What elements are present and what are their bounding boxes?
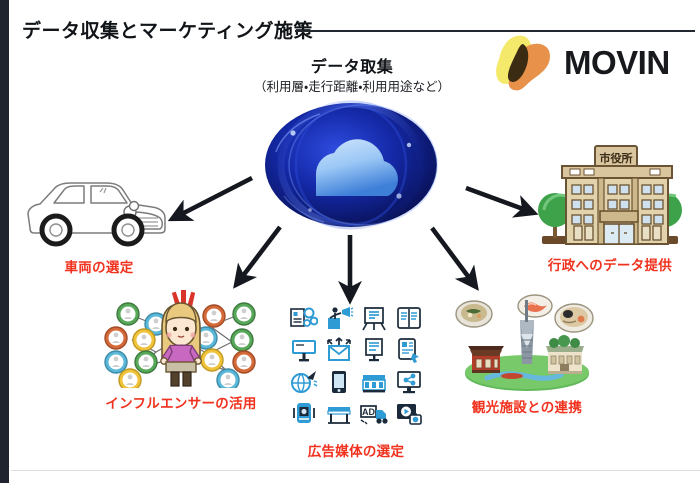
food-bowl-ramen	[456, 301, 492, 327]
smartphone-icon	[323, 368, 354, 396]
temple-building	[468, 346, 504, 373]
center-heading-sub: （利用層・走行距離・利用用途など）	[232, 78, 472, 96]
food-plate-sushi	[518, 295, 552, 317]
ad-truck-icon: AD	[358, 400, 389, 428]
influencer-network-icon	[86, 288, 276, 388]
svg-text:AD: AD	[362, 407, 375, 417]
city-hall-building-icon: 市役所	[520, 138, 700, 250]
arrow-to-vehicle	[172, 178, 252, 219]
movin-leaf-mark-icon	[492, 32, 566, 94]
node-influencer-label: インフルエンサーの活用	[86, 392, 276, 412]
open-book-icon	[393, 304, 424, 332]
arrow-to-tourism	[432, 228, 476, 287]
node-tourism-label: 観光施設との連携	[442, 396, 612, 416]
billboard-icon	[288, 336, 319, 364]
video-play-photo-icon	[393, 400, 424, 428]
slide-frame-inner-gap	[9, 0, 11, 483]
advertising-media-icon-grid: AD	[288, 304, 424, 428]
flip-chart-icon	[358, 304, 389, 332]
node-vehicle-label: 車両の選定	[14, 256, 184, 276]
node-tourism: 観光施設との連携	[442, 290, 612, 397]
center-heading: データ取集 （利用層・走行距離・利用用途など）	[232, 58, 472, 96]
avatar-cluster-left	[105, 303, 167, 388]
cloud-sphere-icon	[258, 100, 444, 230]
globe-satellite-icon	[288, 368, 319, 396]
center-heading-main: データ取集	[232, 58, 472, 78]
slide-frame-left-bar	[0, 0, 9, 483]
video-camera-icon	[288, 400, 319, 428]
shop-awning-icon	[358, 368, 389, 396]
projector-screen-icon	[358, 336, 389, 364]
building-sign-text: 市役所	[600, 151, 633, 165]
node-ads-media-label: 広告媒体の選定	[276, 440, 436, 460]
node-influencer: インフルエンサーの活用	[86, 288, 276, 393]
email-spread-icon	[323, 336, 354, 364]
movin-logo: MOVIN	[492, 32, 692, 94]
arrow-to-influencer	[236, 227, 280, 285]
node-government: 市役所	[520, 138, 700, 255]
food-bowl-soup	[555, 304, 593, 332]
monitor-share-icon	[393, 368, 424, 396]
node-government-label: 行政へのデータ提供	[520, 254, 700, 274]
document-gears-icon	[288, 304, 319, 332]
movin-logo-text: MOVIN	[564, 44, 670, 82]
slide-bottom-rule	[11, 470, 700, 471]
slide-canvas: データ収集とマーケティング施策 MOVIN データ取集 （利用層・走行距離・利用…	[0, 0, 700, 483]
tourist-attractions-icon	[442, 290, 612, 392]
historic-western-building	[546, 335, 584, 374]
tablet-touch-icon	[393, 336, 424, 364]
presenter-megaphone-icon	[323, 304, 354, 332]
car-line-drawing-icon	[14, 172, 184, 250]
influencer-person	[161, 303, 201, 386]
node-vehicle: 車両の選定	[14, 172, 184, 255]
node-ads-media: AD 広告媒体の選定	[276, 304, 436, 428]
page-title: データ収集とマーケティング施策	[22, 16, 313, 43]
table-stand-icon	[323, 400, 354, 428]
